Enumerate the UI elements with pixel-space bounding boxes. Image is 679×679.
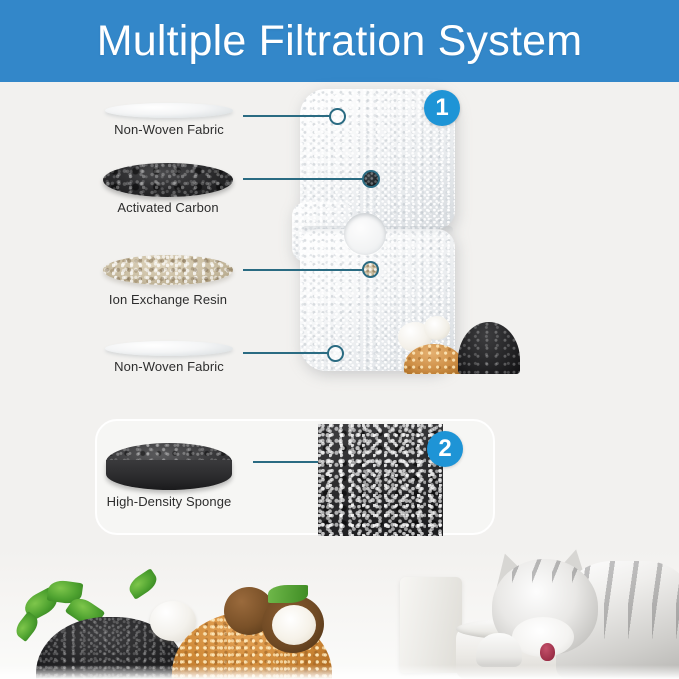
connector-ion-exchange-resin: [243, 269, 365, 271]
callout-dot-ion-exchange-resin: [362, 261, 379, 278]
cat-tongue: [540, 643, 555, 661]
coconut-flesh: [272, 605, 316, 645]
product-infographic: Multiple Filtration System 1 Non-Woven F…: [0, 0, 679, 679]
sponge-disc-side: [106, 460, 232, 490]
connector-non-woven-fabric-bottom: [243, 352, 329, 354]
step-badge-2: 2: [427, 431, 463, 467]
connector-non-woven-fabric-top: [243, 115, 331, 117]
ingredients-photo-strip: [0, 549, 679, 679]
swatch-ion-exchange-resin: [103, 255, 233, 285]
callout-dot-activated-carbon: [362, 170, 380, 188]
callout-dot-non-woven-fabric-top: [329, 108, 346, 125]
header-banner: Multiple Filtration System: [0, 0, 679, 82]
cotton-boll-decoration-2: [424, 316, 450, 340]
connector-activated-carbon: [243, 178, 365, 180]
label-high-density-sponge: High-Density Sponge: [98, 494, 240, 509]
coconut-frond-icon: [268, 585, 308, 603]
swatch-non-woven-fabric-bottom: [105, 341, 233, 356]
swatch-high-density-sponge: [106, 443, 232, 497]
label-non-woven-fabric-bottom: Non-Woven Fabric: [105, 359, 233, 374]
step-badge-1: 1: [424, 90, 460, 126]
swatch-non-woven-fabric-top: [105, 103, 233, 118]
callout-dot-non-woven-fabric-bottom: [327, 345, 344, 362]
photo-baseline-fade: [0, 665, 679, 679]
page-title: Multiple Filtration System: [97, 20, 583, 63]
water-fountain-tank: [400, 577, 462, 673]
label-ion-exchange-resin: Ion Exchange Resin: [98, 292, 238, 307]
carbon-granules-decoration: [458, 322, 520, 374]
cat-paw: [476, 633, 522, 667]
sponge-block-illustration: [318, 424, 443, 536]
label-non-woven-fabric-top: Non-Woven Fabric: [105, 122, 233, 137]
swatch-activated-carbon: [103, 163, 233, 197]
garlic-leaf-icon: [126, 568, 161, 600]
label-activated-carbon: Activated Carbon: [103, 200, 233, 215]
cartridge-center-hole: [344, 213, 386, 255]
